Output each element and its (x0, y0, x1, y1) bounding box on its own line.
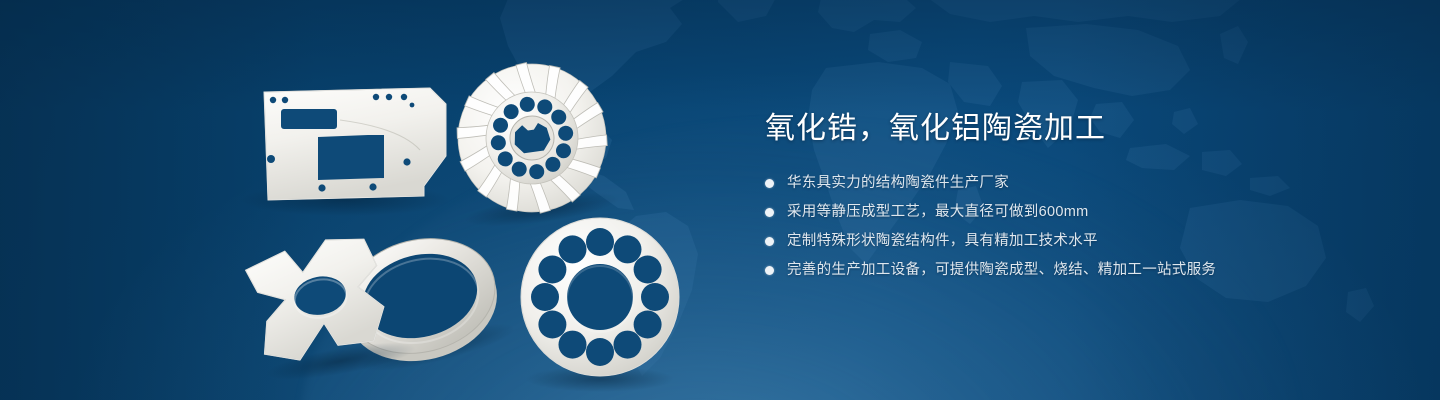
list-item: 定制特殊形状陶瓷结构件，具有精加工技术水平 (765, 232, 1385, 251)
product-photo-group (0, 0, 760, 400)
page-title: 氧化锆，氧化铝陶瓷加工 (765, 112, 1385, 146)
feature-text: 定制特殊形状陶瓷结构件，具有精加工技术水平 (787, 232, 1098, 251)
bullet-dot-icon (765, 266, 774, 275)
list-item: 华东具实力的结构陶瓷件生产厂家 (765, 174, 1385, 193)
ceramic-machined-plate (240, 88, 450, 216)
list-item: 完善的生产加工设备，可提供陶瓷成型、烧结、精加工一站式服务 (765, 261, 1385, 280)
bullet-dot-icon (765, 237, 774, 246)
feature-text: 华东具实力的结构陶瓷件生产厂家 (787, 174, 1009, 193)
feature-text: 完善的生产加工设备，可提供陶瓷成型、烧结、精加工一站式服务 (787, 261, 1216, 280)
bullet-dot-icon (765, 208, 774, 217)
feature-text: 采用等静压成型工艺，最大直径可做到600mm (787, 203, 1088, 222)
banner-text-block: 氧化锆，氧化铝陶瓷加工 华东具实力的结构陶瓷件生产厂家 采用等静压成型工艺，最大… (765, 112, 1385, 290)
bullet-dot-icon (765, 179, 774, 188)
list-item: 采用等静压成型工艺，最大直径可做到600mm (765, 203, 1385, 222)
feature-list: 华东具实力的结构陶瓷件生产厂家 采用等静压成型工艺，最大直径可做到600mm 定… (765, 174, 1385, 280)
ceramic-impeller (444, 50, 621, 233)
hero-banner: 氧化锆，氧化铝陶瓷加工 华东具实力的结构陶瓷件生产厂家 采用等静压成型工艺，最大… (0, 0, 1440, 400)
ceramic-perforated-disc (521, 218, 679, 392)
